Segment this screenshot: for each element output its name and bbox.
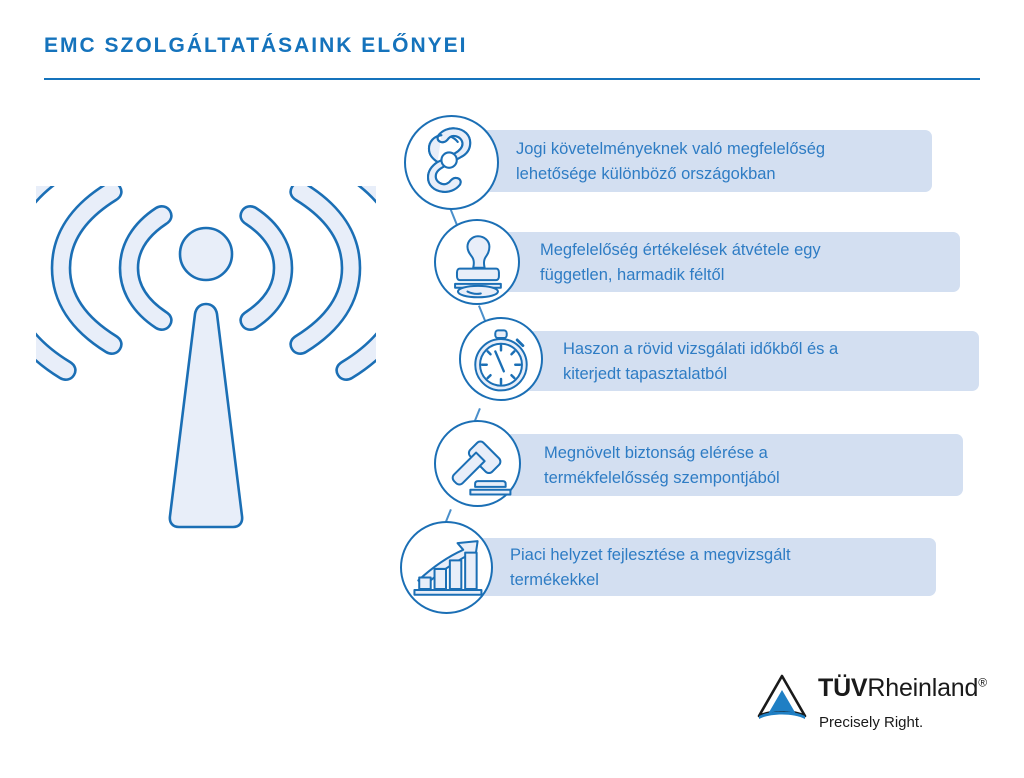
slide-canvas: EMC SZOLGÁLTATÁSAINK ELŐNYEI xyxy=(0,0,1024,778)
benefit-label-5: Piaci helyzet fejlesztése a megvizsgált … xyxy=(510,543,934,593)
antenna-broadcast-icon xyxy=(36,186,376,554)
page-title: EMC SZOLGÁLTATÁSAINK ELŐNYEI xyxy=(44,34,468,58)
stopwatch-icon[interactable] xyxy=(459,317,543,401)
tuv-rheinland-triangle-logo xyxy=(752,674,812,722)
rubber-stamp-icon[interactable] xyxy=(434,219,520,305)
tuv-rheinland-logo: TÜVRheinland® Precisely Right. xyxy=(752,672,984,744)
gavel-icon[interactable] xyxy=(434,420,521,507)
benefit-label-1: Jogi követelményeknek való megfelelőség … xyxy=(516,137,936,187)
benefit-label-2: Megfelelőség értékelések átvétele egy fü… xyxy=(540,238,958,288)
logo-wordmark: TÜVRheinland® xyxy=(818,674,987,703)
registered-trademark-icon: ® xyxy=(978,676,987,690)
title-divider xyxy=(44,78,980,80)
logo-brand-bold: TÜV xyxy=(818,674,867,702)
benefit-label-3: Haszon a rövid vizsgálati időkből és a k… xyxy=(563,337,979,387)
growth-chart-icon[interactable] xyxy=(400,521,493,614)
logo-brand-regular: Rheinland xyxy=(867,674,978,702)
section-paragraph-icon[interactable] xyxy=(404,115,499,210)
logo-tagline: Precisely Right. xyxy=(819,714,923,731)
benefit-label-4: Megnövelt biztonság elérése a termékfele… xyxy=(544,441,962,491)
